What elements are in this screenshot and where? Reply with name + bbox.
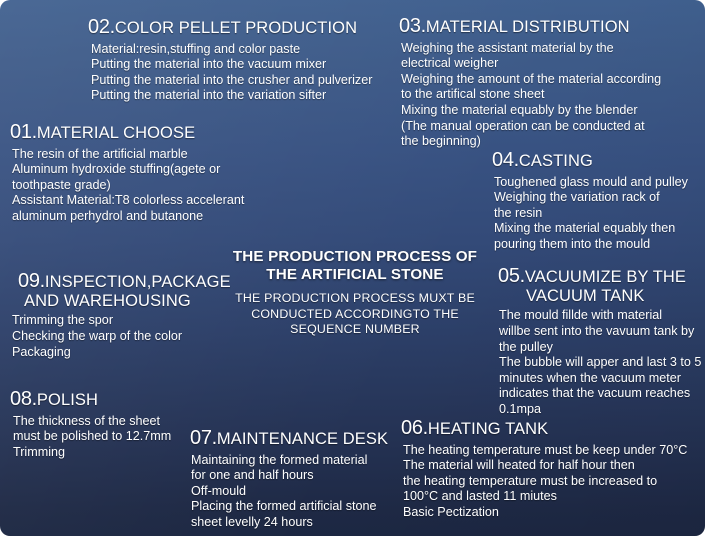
step-heading-07: 07.MAINTENANCE DESK	[190, 428, 388, 450]
step-heading-08: 08.POLISH	[10, 389, 171, 411]
step-body-line: 0.1mpa	[499, 402, 701, 418]
center-title-line-2: THE ARTIFICIAL STONE	[218, 266, 492, 284]
step-body-line: (The manual operation can be conducted a…	[401, 119, 661, 135]
step-title-04: CASTING	[519, 152, 593, 170]
step-body-line: Maintaining the formed material	[191, 453, 388, 469]
step-title-02: COLOR PELLET PRODUCTION	[115, 19, 357, 37]
step-title-06: HEATING TANK	[428, 420, 548, 438]
step-body-line: electrical weigher	[401, 56, 661, 72]
step-body-line: willbe sent into the vavuum tank by	[499, 324, 701, 340]
step-heading-01: 01.MATERIAL CHOOSE	[10, 122, 244, 144]
step-number-07: 07.	[190, 427, 217, 449]
step-body-line: Aluminum hydroxide stuffing(agete or	[12, 162, 244, 178]
step-heading-05: 05.VACUUMIZE BY THE VACUUM TANK	[498, 266, 698, 305]
step-number-01: 01.	[10, 121, 37, 143]
step-body-line: The thickness of the sheet	[13, 414, 171, 430]
process-step-08: 08.POLISH The thickness of the sheet mus…	[10, 389, 171, 460]
step-body-line: indicates that the vacuum reaches	[499, 386, 701, 402]
step-title-01: MATERIAL CHOOSE	[37, 124, 195, 142]
process-step-05: 05.VACUUMIZE BY THE VACUUM TANK The moul…	[498, 266, 701, 418]
process-step-04: 04.CASTING Toughened glass mould and pul…	[492, 150, 688, 253]
step-title-09: INSPECTION,PACKAGE	[45, 273, 231, 291]
step-body-line: Off-mould	[191, 484, 388, 500]
step-body-line: pouring them into the mould	[494, 237, 688, 253]
step-number-03: 03.	[399, 15, 426, 37]
step-body-01: The resin of the artificial marble Alumi…	[12, 147, 244, 225]
step-number-08: 08.	[10, 388, 37, 410]
step-body-line: 100°C and lasted 11 miutes	[403, 489, 687, 505]
center-subtitle-line-1: THE PRODUCTION PROCESS MUXT BE	[218, 291, 492, 307]
center-subtitle-line-2: CONDUCTED ACCORDINGTO THE	[218, 307, 492, 323]
step-body-line: to the artifical stone sheet	[401, 87, 661, 103]
step-body-line: Material:resin,stuffing and color paste	[91, 42, 372, 58]
process-step-02: 02.COLOR PELLET PRODUCTION Material:resi…	[88, 17, 372, 104]
step-title-05-line2: VACUUM TANK	[498, 288, 698, 306]
step-number-02: 02.	[88, 16, 115, 38]
step-number-05: 05.	[498, 265, 525, 287]
step-body-line: the resin	[494, 206, 688, 222]
step-body-03: Weighing the assistant material by the e…	[401, 41, 661, 150]
step-title-05: VACUUMIZE BY THE	[525, 268, 686, 286]
step-body-line: must be polished to 12.7mm	[13, 429, 171, 445]
step-body-line: for one and half hours	[191, 468, 388, 484]
process-step-01: 01.MATERIAL CHOOSE The resin of the arti…	[10, 122, 244, 225]
slide-canvas: 02.COLOR PELLET PRODUCTION Material:resi…	[0, 0, 705, 536]
step-body-line: the pulley	[499, 340, 701, 356]
step-body-line: Weighing the amount of the material acco…	[401, 72, 661, 88]
step-body-line: The mould fillde with material	[499, 308, 701, 324]
step-title-08: POLISH	[37, 391, 98, 409]
center-title-main: THE PRODUCTION PROCESS OF THE ARTIFICIAL…	[218, 248, 492, 284]
step-body-line: Trimming	[13, 445, 171, 461]
step-body-line: Assistant Material:T8 colorless accelera…	[12, 193, 244, 209]
step-body-06: The heating temperature must be keep und…	[403, 443, 687, 521]
step-body-line: Putting the material into the crusher an…	[91, 73, 372, 89]
step-body-line: sheet levelly 24 hours	[191, 515, 388, 531]
step-body-line: The material will heated for half hour t…	[403, 458, 687, 474]
step-title-07: MAINTENANCE DESK	[217, 430, 388, 448]
step-body-line: Weighing the assistant material by the	[401, 41, 661, 57]
step-number-09: 09.	[18, 270, 45, 292]
step-body-line: The heating temperature must be keep und…	[403, 443, 687, 459]
step-body-09: Trimming the spor Checking the warp of t…	[12, 313, 231, 360]
step-body-05: The mould fillde with material willbe se…	[499, 308, 701, 417]
step-body-02: Material:resin,stuffing and color paste …	[91, 42, 372, 104]
step-body-line: Checking the warp of the color	[12, 329, 231, 345]
step-body-line: Mixing the material equably then	[494, 221, 688, 237]
step-body-line: minutes when the vacuum meter	[499, 371, 701, 387]
step-body-line: Toughened glass mould and pulley	[494, 175, 688, 191]
step-body-line: Weighing the variation rack of	[494, 190, 688, 206]
center-title-block: THE PRODUCTION PROCESS OF THE ARTIFICIAL…	[218, 248, 492, 338]
step-body-line: Putting the material into the vacuum mix…	[91, 57, 372, 73]
step-body-08: The thickness of the sheet must be polis…	[13, 414, 171, 461]
step-body-line: Mixing the material equably by the blend…	[401, 103, 661, 119]
process-step-07: 07.MAINTENANCE DESK Maintaining the form…	[190, 428, 388, 531]
step-body-line: Packaging	[12, 345, 231, 361]
center-subtitle-line-3: SEQUENCE NUMBER	[218, 322, 492, 338]
step-body-07: Maintaining the formed material for one …	[191, 453, 388, 531]
step-heading-04: 04.CASTING	[492, 150, 688, 172]
step-body-line: The bubble will apper and last 3 to 5	[499, 355, 701, 371]
step-number-04: 04.	[492, 149, 519, 171]
step-heading-06: 06.HEATING TANK	[401, 418, 687, 440]
step-body-line: Placing the formed artificial stone	[191, 499, 388, 515]
step-body-line: Basic Pectization	[403, 505, 687, 521]
process-step-09: 09.INSPECTION,PACKAGE AND WAREHOUSING Tr…	[16, 271, 231, 360]
step-body-line: Putting the material into the variation …	[91, 88, 372, 104]
step-heading-03: 03.MATERIAL DISTRIBUTION	[399, 16, 661, 38]
process-step-03: 03.MATERIAL DISTRIBUTION Weighing the as…	[399, 16, 661, 150]
step-body-line: The resin of the artificial marble	[12, 147, 244, 163]
step-title-03: MATERIAL DISTRIBUTION	[426, 18, 630, 36]
step-heading-02: 02.COLOR PELLET PRODUCTION	[88, 17, 372, 39]
center-title-subtitle: THE PRODUCTION PROCESS MUXT BE CONDUCTED…	[218, 291, 492, 338]
step-body-line: the beginning)	[401, 134, 661, 150]
step-body-line: Trimming the spor	[12, 313, 231, 329]
process-step-06: 06.HEATING TANK The heating temperature …	[401, 418, 687, 521]
step-body-line: toothpaste grade)	[12, 178, 244, 194]
center-title-line-1: THE PRODUCTION PROCESS OF	[218, 248, 492, 266]
step-body-line: the heating temperature must be increase…	[403, 474, 687, 490]
step-body-line: aluminum perhydrol and butanone	[12, 209, 244, 225]
step-number-06: 06.	[401, 417, 428, 439]
step-heading-09: 09.INSPECTION,PACKAGE AND WAREHOUSING	[18, 271, 231, 310]
step-title-09-line2: AND WAREHOUSING	[18, 293, 231, 311]
step-body-04: Toughened glass mould and pulley Weighin…	[494, 175, 688, 253]
